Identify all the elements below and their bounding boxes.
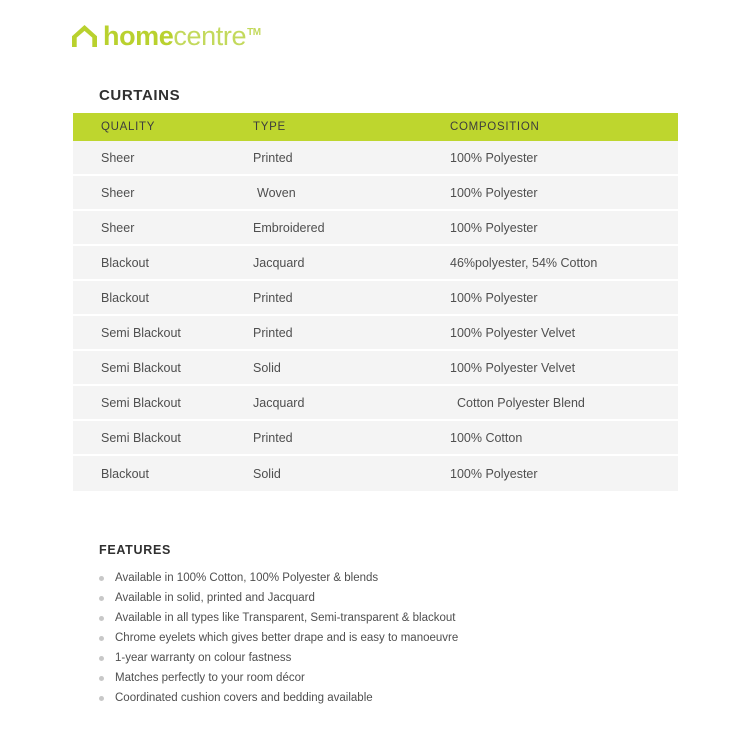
table-row: Blackout Printed 100% Polyester	[73, 281, 678, 316]
brand-word-home: home	[103, 23, 173, 50]
cell-composition: 46%polyester, 54% Cotton	[438, 256, 678, 270]
column-header-composition: COMPOSITION	[438, 121, 678, 133]
list-item: Chrome eyelets which gives better drape …	[99, 628, 619, 648]
cell-composition: Cotton Polyester Blend	[438, 396, 678, 410]
brand-word-centre: centre	[173, 23, 246, 50]
cell-type: Embroidered	[248, 221, 438, 235]
list-item: Available in solid, printed and Jacquard	[99, 588, 619, 608]
bullet-dot-icon	[99, 596, 104, 601]
cell-composition: 100% Polyester	[438, 221, 678, 235]
table-row: Sheer Printed 100% Polyester	[73, 141, 678, 176]
cell-type: Printed	[248, 326, 438, 340]
table-row: Semi Blackout Jacquard Cotton Polyester …	[73, 386, 678, 421]
table-row: Semi Blackout Solid 100% Polyester Velve…	[73, 351, 678, 386]
bullet-dot-icon	[99, 656, 104, 661]
feature-text: Matches perfectly to your room décor	[115, 672, 305, 684]
cell-quality: Semi Blackout	[73, 431, 248, 445]
cell-composition: 100% Polyester Velvet	[438, 361, 678, 375]
cell-type: Woven	[248, 186, 438, 200]
bullet-dot-icon	[99, 636, 104, 641]
cell-quality: Sheer	[73, 221, 248, 235]
feature-text: 1-year warranty on colour fastness	[115, 652, 291, 664]
table-row: Blackout Jacquard 46%polyester, 54% Cott…	[73, 246, 678, 281]
cell-composition: 100% Polyester	[438, 186, 678, 200]
brand-wordmark: homecentreTM	[103, 23, 260, 50]
cell-type: Printed	[248, 151, 438, 165]
table-row: Blackout Solid 100% Polyester	[73, 456, 678, 491]
cell-type: Solid	[248, 361, 438, 375]
cell-quality: Semi Blackout	[73, 326, 248, 340]
features-title: FEATURES	[99, 543, 619, 557]
feature-text: Chrome eyelets which gives better drape …	[115, 632, 458, 644]
feature-text: Available in solid, printed and Jacquard	[115, 592, 315, 604]
curtains-spec-table: QUALITY TYPE COMPOSITION Sheer Printed 1…	[73, 113, 678, 491]
feature-text: Available in 100% Cotton, 100% Polyester…	[115, 572, 378, 584]
list-item: Available in all types like Transparent,…	[99, 608, 619, 628]
cell-quality: Blackout	[73, 467, 248, 481]
cell-quality: Semi Blackout	[73, 361, 248, 375]
bullet-dot-icon	[99, 576, 104, 581]
cell-composition: 100% Polyester Velvet	[438, 326, 678, 340]
cell-composition: 100% Polyester	[438, 291, 678, 305]
table-row: Semi Blackout Printed 100% Polyester Vel…	[73, 316, 678, 351]
page-title: CURTAINS	[99, 87, 180, 104]
cell-composition: 100% Cotton	[438, 431, 678, 445]
cell-type: Printed	[248, 431, 438, 445]
column-header-type: TYPE	[248, 121, 438, 133]
feature-text: Coordinated cushion covers and bedding a…	[115, 692, 373, 704]
table-row: Sheer Embroidered 100% Polyester	[73, 211, 678, 246]
cell-type: Jacquard	[248, 256, 438, 270]
cell-quality: Sheer	[73, 151, 248, 165]
cell-type: Jacquard	[248, 396, 438, 410]
list-item: Coordinated cushion covers and bedding a…	[99, 688, 619, 708]
house-roof-icon	[71, 23, 98, 48]
cell-composition: 100% Polyester	[438, 151, 678, 165]
features-section: FEATURES Available in 100% Cotton, 100% …	[99, 543, 619, 708]
bullet-dot-icon	[99, 616, 104, 621]
cell-quality: Sheer	[73, 186, 248, 200]
list-item: Available in 100% Cotton, 100% Polyester…	[99, 568, 619, 588]
column-header-quality: QUALITY	[73, 121, 248, 133]
feature-text: Available in all types like Transparent,…	[115, 612, 456, 624]
table-header-row: QUALITY TYPE COMPOSITION	[73, 113, 678, 141]
cell-type: Printed	[248, 291, 438, 305]
bullet-dot-icon	[99, 676, 104, 681]
cell-type: Solid	[248, 467, 438, 481]
trademark-symbol: TM	[247, 28, 261, 38]
table-row: Sheer Woven 100% Polyester	[73, 176, 678, 211]
list-item: 1-year warranty on colour fastness	[99, 648, 619, 668]
cell-quality: Blackout	[73, 291, 248, 305]
list-item: Matches perfectly to your room décor	[99, 668, 619, 688]
cell-quality: Blackout	[73, 256, 248, 270]
brand-logo: homecentreTM	[71, 16, 260, 50]
table-row: Semi Blackout Printed 100% Cotton	[73, 421, 678, 456]
cell-composition: 100% Polyester	[438, 467, 678, 481]
cell-quality: Semi Blackout	[73, 396, 248, 410]
bullet-dot-icon	[99, 696, 104, 701]
